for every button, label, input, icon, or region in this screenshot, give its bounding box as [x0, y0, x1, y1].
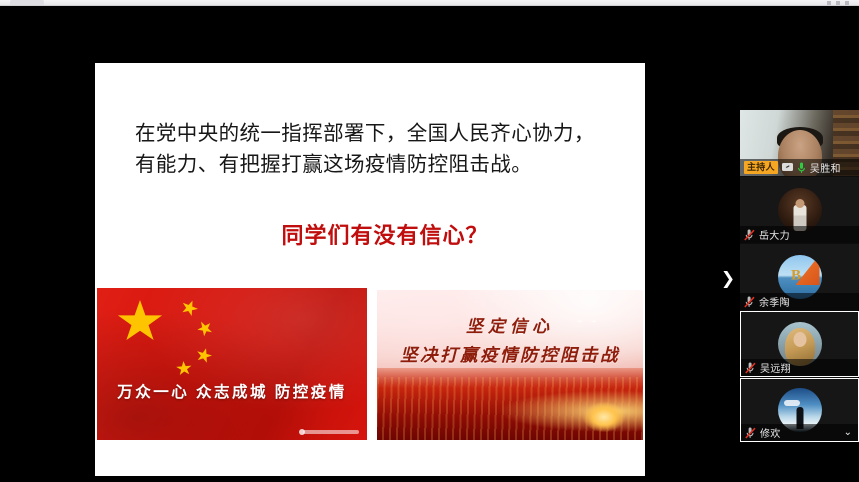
participant-tile-4[interactable]: 修欢 ⌄ — [740, 378, 859, 442]
flag-image-caption: 万众一心 众志成城 防控疫情 — [97, 380, 367, 402]
banner-image: ⌁ ⌁ 坚定信心 坚决打赢疫情防控阻击战 — [377, 290, 643, 440]
participant-tile-2[interactable]: B 余季陶 — [740, 244, 859, 310]
participant-tile-1[interactable]: 岳大力 — [740, 177, 859, 243]
meeting-stage: 在党中央的统一指挥部署下，全国人民齐心协力，有能力、有把握打赢这场疫情防控阻击战… — [0, 6, 859, 482]
flag-star-small-4 — [175, 360, 192, 376]
slide-content: 在党中央的统一指挥部署下，全国人民齐心协力，有能力、有把握打赢这场疫情防控阻击战… — [95, 63, 645, 476]
participant-filmstrip[interactable]: 主持人 吴胜和 — [740, 110, 859, 442]
flag-star-small-3 — [194, 346, 214, 365]
participant-name-bar: 吴远翔 — [741, 359, 858, 376]
chevron-down-icon[interactable]: ⌄ — [844, 427, 854, 438]
window-tab[interactable] — [10, 0, 44, 5]
participant-tile-3[interactable]: 吴远翔 — [740, 311, 859, 377]
slide-paragraph: 在党中央的统一指挥部署下，全国人民齐心协力，有能力、有把握打赢这场疫情防控阻击战… — [135, 118, 615, 180]
shared-screen-slide[interactable]: 在党中央的统一指挥部署下，全国人民齐心协力，有能力、有把握打赢这场疫情防控阻击战… — [95, 63, 645, 476]
flag-star-large — [117, 300, 163, 344]
microphone-muted-icon — [745, 362, 756, 374]
participant-name: 吴胜和 — [810, 160, 841, 175]
microphone-muted-icon — [744, 296, 755, 308]
flag-star-small-2 — [194, 318, 216, 340]
flag-image-scrollbar[interactable] — [303, 430, 359, 434]
microphone-muted-icon — [745, 427, 756, 439]
participant-name: 修欢 — [760, 425, 781, 440]
collapse-panel-chevron-right-icon[interactable]: ❯ — [716, 256, 740, 300]
participant-name: 余季陶 — [759, 294, 790, 309]
flag-image: 万众一心 众志成城 防控疫情 — [97, 288, 367, 440]
participant-name: 吴远翔 — [760, 360, 791, 375]
participant-tile-host[interactable]: 主持人 吴胜和 — [740, 110, 859, 176]
slide-image-row: 万众一心 众志成城 防控疫情 ⌁ ⌁ 坚定信心 坚决打赢疫情防控阻击战 — [95, 288, 645, 440]
screen-share-icon — [782, 163, 793, 172]
participant-name: 岳大力 — [759, 227, 790, 242]
participant-name-bar: 余季陶 — [740, 293, 859, 310]
microphone-muted-icon — [744, 229, 755, 241]
slide-question: 同学们有没有信心？ — [95, 218, 645, 250]
host-badge: 主持人 — [744, 161, 778, 174]
banner-image-line1: 坚定信心 — [377, 312, 643, 337]
flag-star-small-1 — [179, 297, 201, 318]
participant-name-bar: 修欢 ⌄ — [741, 424, 858, 441]
avatar-cloud-shape — [784, 400, 800, 406]
host-name-bar: 主持人 吴胜和 — [740, 159, 859, 176]
banner-sun-glow — [583, 402, 625, 432]
participant-name-bar: 岳大力 — [740, 226, 859, 243]
banner-image-line2: 坚决打赢疫情防控阻击战 — [377, 342, 643, 367]
microphone-on-icon — [797, 162, 806, 174]
window-controls[interactable] — [827, 1, 853, 5]
avatar-letter-b: B — [791, 268, 801, 285]
